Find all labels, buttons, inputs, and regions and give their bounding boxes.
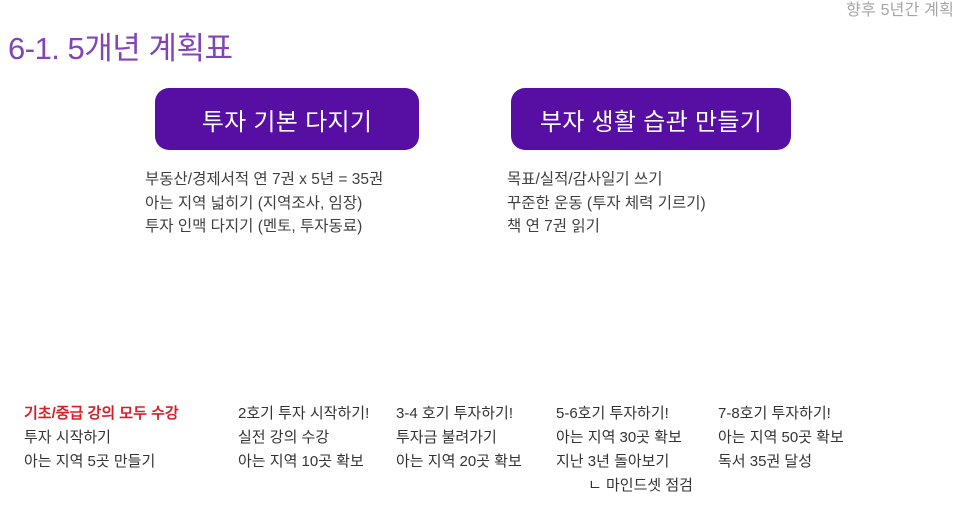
year-line: 3-4 호기 투자하기! <box>396 402 522 426</box>
year-line-highlight: 기초/중급 강의 모두 수강 <box>24 402 179 426</box>
year-line: 7-8호기 투자하기! <box>718 402 844 426</box>
year-line: 5-6호기 투자하기! <box>556 402 693 426</box>
goal-note-line: 아는 지역 넓히기 (지역조사, 임장) <box>145 192 383 216</box>
year-column-2029: 7-8호기 투자하기!아는 지역 50곳 확보독서 35권 달성 <box>718 402 844 474</box>
goal-note-line: 부동산/경제서적 연 7권 x 5년 = 35권 <box>145 168 383 192</box>
year-line: 지난 3년 돌아보기 <box>556 450 693 474</box>
year-line: 2호기 투자 시작하기! <box>238 402 369 426</box>
year-line: ㄴ 마인드셋 점검 <box>556 474 693 498</box>
goal-note-line: 책 연 7권 읽기 <box>507 215 706 239</box>
timeline: 20252026202720282029 <box>0 292 960 394</box>
goal-pill-0[interactable]: 투자 기본 다지기 <box>155 88 419 150</box>
goal-notes-0: 부동산/경제서적 연 7권 x 5년 = 35권아는 지역 넓히기 (지역조사,… <box>145 168 383 239</box>
year-column-2027: 3-4 호기 투자하기!투자금 불려가기아는 지역 20곳 확보 <box>396 402 522 474</box>
goal-note-line: 목표/실적/감사일기 쓰기 <box>507 168 706 192</box>
year-line: 아는 지역 20곳 확보 <box>396 450 522 474</box>
year-line: 투자금 불려가기 <box>396 426 522 450</box>
year-line: 아는 지역 5곳 만들기 <box>24 450 179 474</box>
year-line: 투자 시작하기 <box>24 426 179 450</box>
year-column-2026: 2호기 투자 시작하기!실전 강의 수강아는 지역 10곳 확보 <box>238 402 369 474</box>
year-line: 독서 35권 달성 <box>718 450 844 474</box>
header-note: 향후 5년간 계획 <box>846 0 954 20</box>
goal-note-line: 꾸준한 운동 (투자 체력 기르기) <box>507 192 706 216</box>
year-line: 아는 지역 50곳 확보 <box>718 426 844 450</box>
goal-pill-1[interactable]: 부자 생활 습관 만들기 <box>511 88 791 150</box>
page-title: 6-1. 5개년 계획표 <box>8 23 232 68</box>
goal-note-line: 투자 인맥 다지기 (멘토, 투자동료) <box>145 215 383 239</box>
year-line: 실전 강의 수강 <box>238 426 369 450</box>
slide-canvas: 6-1. 5개년 계획표 향후 5년간 계획 투자 기본 다지기부동산/경제서적… <box>0 0 960 510</box>
year-line: 아는 지역 10곳 확보 <box>238 450 369 474</box>
goal-notes-1: 목표/실적/감사일기 쓰기꾸준한 운동 (투자 체력 기르기)책 연 7권 읽기 <box>507 168 706 239</box>
year-line: 아는 지역 30곳 확보 <box>556 426 693 450</box>
year-column-2028: 5-6호기 투자하기!아는 지역 30곳 확보지난 3년 돌아보기ㄴ 마인드셋 … <box>556 402 693 498</box>
year-column-2025: 기초/중급 강의 모두 수강투자 시작하기아는 지역 5곳 만들기 <box>24 402 179 474</box>
